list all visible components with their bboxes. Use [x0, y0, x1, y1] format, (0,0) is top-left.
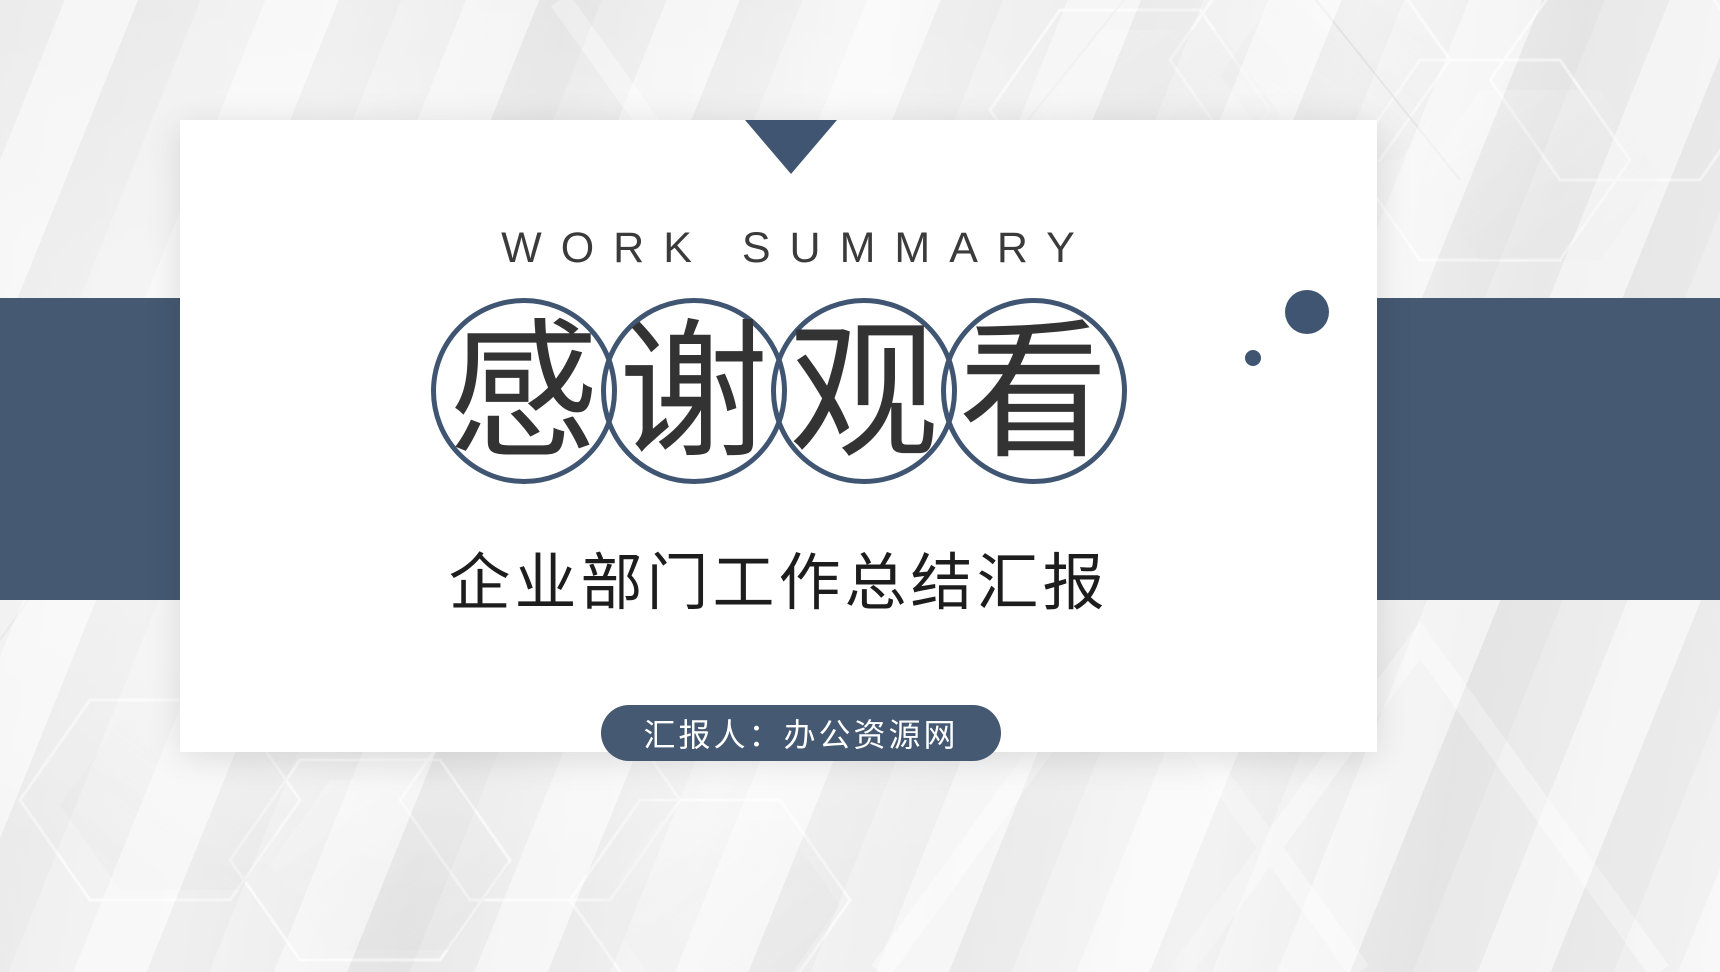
- content-card: WORK SUMMARY 感 谢 观 看 企业部门工作总结汇报 汇报人：办公资源…: [180, 120, 1377, 752]
- circled-character-2: 谢: [601, 298, 787, 484]
- circled-character-2-label: 谢: [618, 318, 768, 468]
- presentation-slide: WORK SUMMARY 感 谢 观 看 企业部门工作总结汇报 汇报人：办公资源…: [0, 0, 1720, 972]
- circled-character-1: 感: [431, 298, 617, 484]
- circled-character-4-label: 看: [958, 318, 1108, 468]
- circled-character-4: 看: [941, 298, 1127, 484]
- triangle-marker-icon: [745, 120, 837, 174]
- circled-character-3-label: 观: [788, 318, 938, 468]
- circled-characters-row: 感 谢 观 看: [180, 298, 1377, 484]
- eyebrow-text: WORK SUMMARY: [180, 224, 1396, 273]
- circled-character-3: 观: [771, 298, 957, 484]
- presenter-badge: 汇报人：办公资源网: [601, 705, 1001, 761]
- circled-character-1-label: 感: [448, 318, 598, 468]
- slide-main-title: 企业部门工作总结汇报: [180, 532, 1377, 622]
